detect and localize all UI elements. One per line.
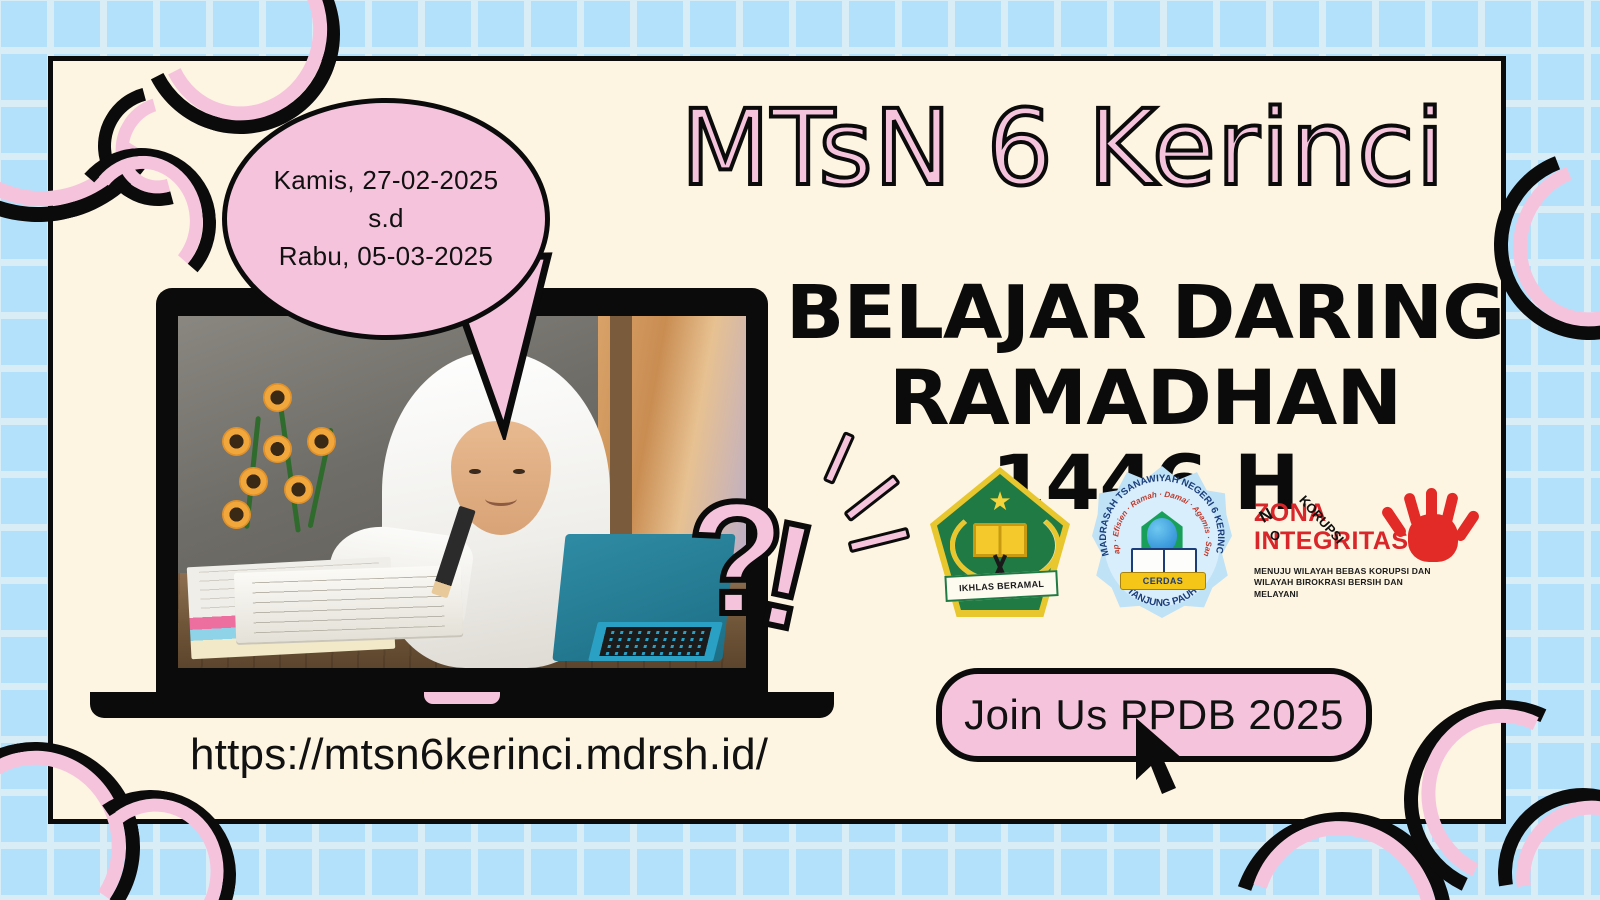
stamp-letter-o: O bbox=[1269, 527, 1281, 543]
kemenag-motto-text: IKHLAS BERAMAL bbox=[959, 579, 1045, 593]
poster-canvas: Kamis, 27-02-2025 s.d Rabu, 05-03-2025 ?… bbox=[0, 0, 1600, 900]
zona-integritas-tagline: MENUJU WILAYAH BEBAS KORUPSI DAN WILAYAH… bbox=[1254, 566, 1432, 600]
school-logo-banner: CERDAS bbox=[1120, 572, 1206, 590]
headline-line-1: BELAJAR DARING bbox=[776, 272, 1514, 355]
no-korupsi-stamp: N O KORUPSI bbox=[1256, 498, 1336, 554]
laptop-notch bbox=[424, 692, 500, 704]
kemenag-quran-icon bbox=[973, 523, 1027, 557]
logo-row: ★ IKHLAS BERAMAL MADRASAH TSANAWIYAH NEG… bbox=[930, 462, 1500, 622]
mouse-cursor-icon bbox=[1132, 716, 1192, 802]
page-title: MTsN 6 Kerinci bbox=[628, 96, 1498, 200]
date-line-3: Rabu, 05-03-2025 bbox=[279, 238, 493, 276]
kemenag-logo: ★ IKHLAS BERAMAL bbox=[930, 467, 1070, 617]
date-speech-bubble: Kamis, 27-02-2025 s.d Rabu, 05-03-2025 bbox=[222, 98, 550, 340]
school-logo-banner-text: CERDAS bbox=[1143, 576, 1183, 586]
website-url: https://mtsn6kerinci.mdrsh.id/ bbox=[190, 730, 768, 780]
date-line-2: s.d bbox=[368, 200, 404, 238]
date-line-1: Kamis, 27-02-2025 bbox=[274, 162, 499, 200]
stamp-letter-n: N bbox=[1256, 504, 1276, 527]
zona-integritas-logo: ZONA INTEGRITAS MENUJU WILAYAH BEBAS KOR… bbox=[1254, 482, 1482, 602]
photo-sunflowers bbox=[212, 372, 382, 555]
school-logo: MADRASAH TSANAWIYAH NEGERI 6 KERINCI Cak… bbox=[1092, 466, 1232, 618]
anti-corruption-hand-icon bbox=[1394, 488, 1478, 568]
photo-open-book bbox=[234, 566, 464, 644]
